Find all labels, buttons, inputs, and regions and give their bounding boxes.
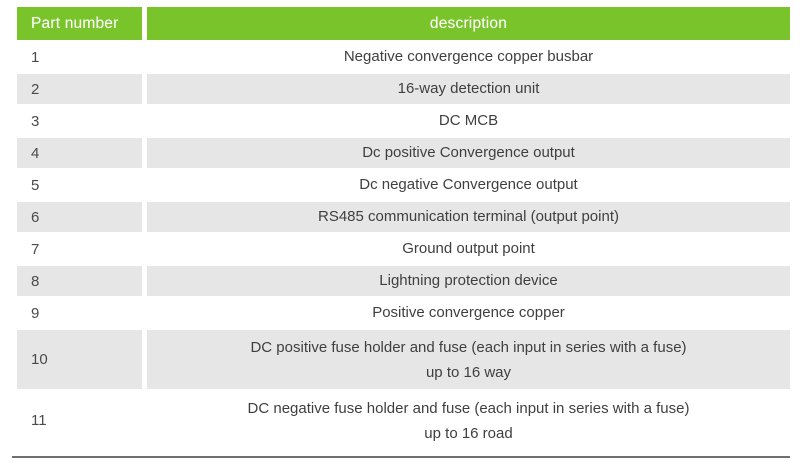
cell-part-number: 3 xyxy=(17,106,142,136)
description-line: up to 16 road xyxy=(153,422,784,447)
description-line: DC negative fuse holder and fuse (each i… xyxy=(153,397,784,422)
cell-description: Negative convergence copper busbar xyxy=(147,42,790,72)
cell-description: DC positive fuse holder and fuse (each i… xyxy=(147,330,790,389)
cell-part-number: 7 xyxy=(17,234,142,264)
cell-description: DC negative fuse holder and fuse (each i… xyxy=(147,391,790,450)
cell-description: DC MCB xyxy=(147,106,790,136)
cell-description: Lightning protection device xyxy=(147,266,790,296)
table-row: 7Ground output point xyxy=(17,234,790,264)
table-header-row: Part number description xyxy=(17,7,790,40)
cell-description: Positive convergence copper xyxy=(147,298,790,328)
table-row: 1Negative convergence copper busbar xyxy=(17,42,790,72)
table-row: 3DC MCB xyxy=(17,106,790,136)
description-line: DC MCB xyxy=(153,109,784,132)
table-row: 10DC positive fuse holder and fuse (each… xyxy=(17,330,790,389)
description-line: 16-way detection unit xyxy=(153,77,784,100)
table-header: Part number description xyxy=(17,7,790,40)
cell-part-number: 4 xyxy=(17,138,142,168)
description-line: RS485 communication terminal (output poi… xyxy=(153,205,784,228)
column-header-description: description xyxy=(147,7,790,40)
description-line: Dc negative Convergence output xyxy=(153,173,784,196)
cell-description: 16-way detection unit xyxy=(147,74,790,104)
cell-part-number: 6 xyxy=(17,202,142,232)
description-line: Lightning protection device xyxy=(153,269,784,292)
description-line: Positive convergence copper xyxy=(153,301,784,324)
cell-part-number: 10 xyxy=(17,330,142,389)
cell-description: Ground output point xyxy=(147,234,790,264)
cell-description: Dc positive Convergence output xyxy=(147,138,790,168)
column-header-part-number: Part number xyxy=(17,7,142,40)
table-row: 9Positive convergence copper xyxy=(17,298,790,328)
parts-description-table: Part number description 1Negative conver… xyxy=(12,5,795,452)
description-line: up to 16 way xyxy=(153,361,784,386)
cell-part-number: 9 xyxy=(17,298,142,328)
description-line: Ground output point xyxy=(153,237,784,260)
cell-part-number: 2 xyxy=(17,74,142,104)
table-row: 216-way detection unit xyxy=(17,74,790,104)
cell-part-number: 1 xyxy=(17,42,142,72)
cell-part-number: 8 xyxy=(17,266,142,296)
description-line: Dc positive Convergence output xyxy=(153,141,784,164)
table-body: 1Negative convergence copper busbar216-w… xyxy=(17,42,790,450)
cell-part-number: 5 xyxy=(17,170,142,200)
table-row: 6RS485 communication terminal (output po… xyxy=(17,202,790,232)
table-row: 8Lightning protection device xyxy=(17,266,790,296)
cell-description: Dc negative Convergence output xyxy=(147,170,790,200)
table-bottom-rule xyxy=(12,456,790,458)
description-line: DC positive fuse holder and fuse (each i… xyxy=(153,336,784,361)
table-row: 11DC negative fuse holder and fuse (each… xyxy=(17,391,790,450)
cell-description: RS485 communication terminal (output poi… xyxy=(147,202,790,232)
table-row: 4Dc positive Convergence output xyxy=(17,138,790,168)
parts-table-container: Part number description 1Negative conver… xyxy=(0,0,800,467)
table-row: 5Dc negative Convergence output xyxy=(17,170,790,200)
description-line: Negative convergence copper busbar xyxy=(153,45,784,68)
cell-part-number: 11 xyxy=(17,391,142,450)
